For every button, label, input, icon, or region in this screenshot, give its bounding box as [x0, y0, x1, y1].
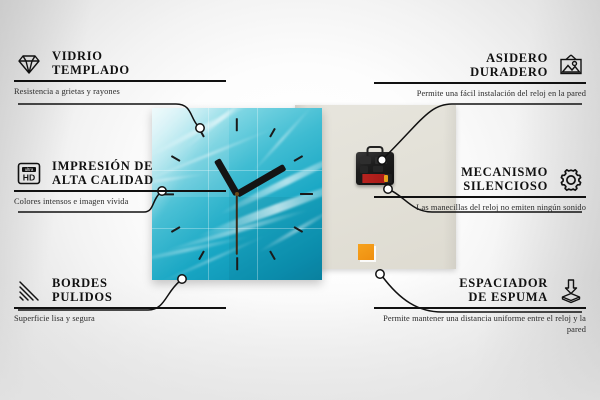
movement-detail	[360, 166, 368, 173]
svg-text:HD: HD	[23, 173, 35, 183]
feature-title-line2: TEMPLADO	[52, 64, 130, 78]
feature-title-line1: ASIDERO	[470, 52, 548, 66]
hour-marker	[236, 257, 238, 270]
feature-divider	[14, 80, 226, 82]
diamond-icon	[14, 51, 44, 77]
feature-title-line1: VIDRIO	[52, 50, 130, 64]
feature-title-line1: ESPACIADOR	[459, 277, 548, 291]
feature-title-line1: BORDES	[52, 277, 112, 291]
feature-vidrio-templado[interactable]: VIDRIO TEMPLADO Resistencia a grietas y …	[14, 50, 226, 97]
feature-mecanismo-silencioso[interactable]: MECANISMO SILENCIOSO Las manecillas del …	[374, 166, 586, 213]
feature-divider	[374, 82, 586, 84]
foam-spacer	[358, 244, 374, 260]
feature-title: BORDES PULIDOS	[52, 277, 112, 304]
feature-description: Las manecillas del reloj no emiten ningú…	[374, 202, 586, 213]
feature-espaciador-de-espuma[interactable]: ESPACIADOR DE ESPUMA Permite mantener un…	[374, 277, 586, 335]
feature-title-line2: DE ESPUMA	[459, 291, 548, 305]
feature-title: ASIDERO DURADERO	[470, 52, 548, 79]
feature-bordes-pulidos[interactable]: BORDES PULIDOS Superficie lisa y segura	[14, 277, 226, 324]
feature-divider	[14, 307, 226, 309]
feature-description: Resistencia a grietas y rayones	[14, 86, 226, 97]
polished-edges-icon	[14, 278, 44, 304]
feature-title-line2: SILENCIOSO	[461, 180, 548, 194]
gear-icon	[556, 167, 586, 193]
feature-title-line2: ALTA CALIDAD	[52, 174, 154, 188]
feature-divider	[374, 196, 586, 198]
feature-title: IMPRESIÓN DE ALTA CALIDAD	[52, 160, 154, 187]
feature-divider	[14, 190, 226, 192]
feature-title-line1: IMPRESIÓN DE	[52, 160, 154, 174]
feature-asidero-duradero[interactable]: ASIDERO DURADERO Permite una fácil insta…	[374, 52, 586, 99]
feature-description: Superficie lisa y segura	[14, 313, 226, 324]
movement-detail	[360, 157, 371, 164]
feature-description: Permite mantener una distancia uniforme …	[374, 313, 586, 336]
clock-hand	[236, 194, 238, 255]
feature-description: Permite una fácil instalación del reloj …	[374, 88, 586, 99]
feature-title: ESPACIADOR DE ESPUMA	[459, 277, 548, 304]
svg-text:ultra: ultra	[25, 167, 34, 172]
foam-spacer-icon	[556, 278, 586, 304]
feature-description: Colores intensos e imagen vívida	[14, 196, 226, 207]
feature-title: MECANISMO SILENCIOSO	[461, 166, 548, 193]
clock-pivot	[235, 192, 239, 196]
feature-title-line2: PULIDOS	[52, 291, 112, 305]
hanger-icon	[367, 146, 384, 156]
feature-title: VIDRIO TEMPLADO	[52, 50, 130, 77]
ultra-hd-icon: ultra HD	[14, 161, 44, 187]
hanging-picture-icon	[556, 53, 586, 79]
feature-title-line2: DURADERO	[470, 66, 548, 80]
feature-title-line1: MECANISMO	[461, 166, 548, 180]
feature-divider	[374, 307, 586, 309]
feature-impresion-alta-calidad[interactable]: ultra HD IMPRESIÓN DE ALTA CALIDAD Color…	[14, 160, 226, 207]
infographic-canvas: VIDRIO TEMPLADO Resistencia a grietas y …	[0, 0, 600, 400]
movement-detail	[375, 157, 387, 164]
